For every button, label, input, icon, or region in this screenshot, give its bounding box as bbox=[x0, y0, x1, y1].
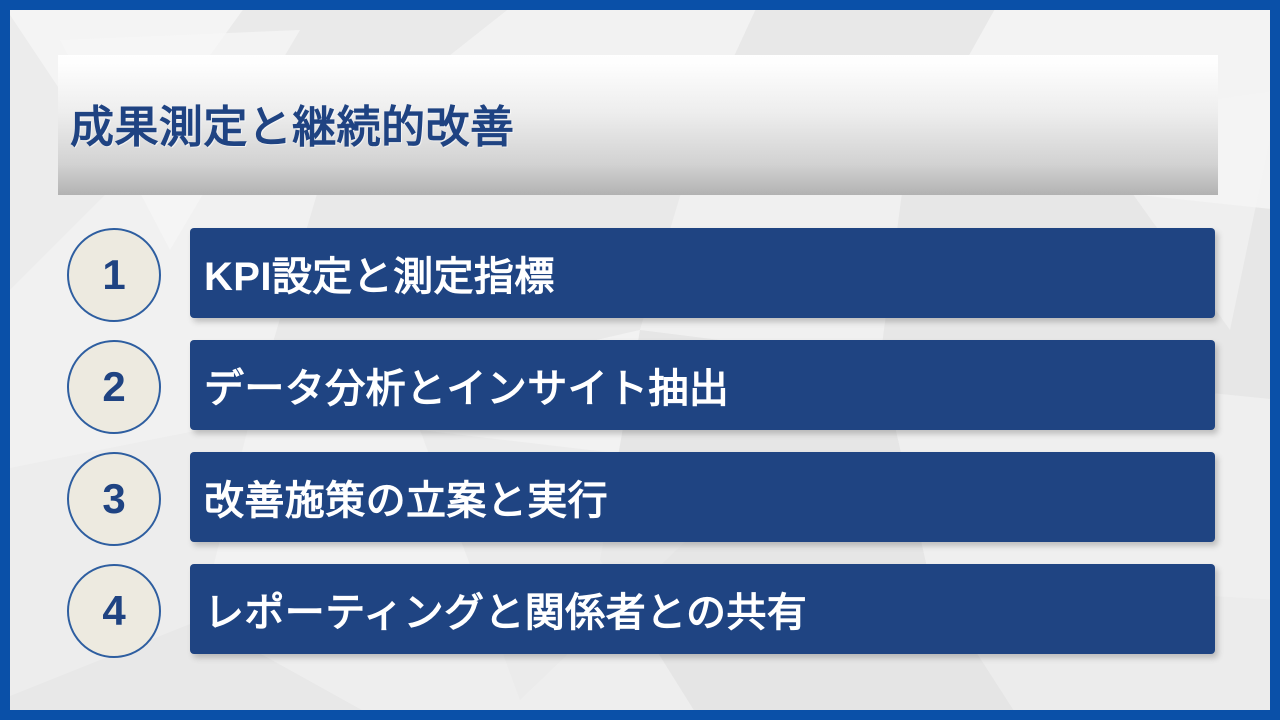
numbered-list: 1 KPI設定と測定指標 2 データ分析とインサイト抽出 3 改善施策の立案と実… bbox=[0, 226, 1280, 674]
list-item[interactable]: 4 レポーティングと関係者との共有 bbox=[0, 562, 1280, 674]
list-item-number: 3 bbox=[102, 478, 125, 520]
frame-border-top bbox=[0, 0, 1280, 10]
list-item[interactable]: 1 KPI設定と測定指標 bbox=[0, 226, 1280, 338]
list-item-label: データ分析とインサイト抽出 bbox=[190, 356, 729, 414]
list-item-bar[interactable]: KPI設定と測定指標 bbox=[190, 228, 1215, 318]
frame-border-bottom bbox=[0, 710, 1280, 720]
list-item[interactable]: 2 データ分析とインサイト抽出 bbox=[0, 338, 1280, 450]
list-item-number: 4 bbox=[102, 590, 125, 632]
list-item-number-badge: 2 bbox=[67, 340, 161, 434]
title-band: 成果測定と継続的改善 bbox=[58, 55, 1218, 195]
list-item-bar[interactable]: 改善施策の立案と実行 bbox=[190, 452, 1215, 542]
list-item-number: 1 bbox=[102, 254, 125, 296]
list-item-number-badge: 1 bbox=[67, 228, 161, 322]
list-item-label: レポーティングと関係者との共有 bbox=[190, 580, 807, 638]
list-item-label: KPI設定と測定指標 bbox=[190, 244, 555, 302]
page-title: 成果測定と継続的改善 bbox=[70, 91, 514, 155]
list-item-number-badge: 3 bbox=[67, 452, 161, 546]
list-item-bar[interactable]: データ分析とインサイト抽出 bbox=[190, 340, 1215, 430]
list-item-number-badge: 4 bbox=[67, 564, 161, 658]
list-item-bar[interactable]: レポーティングと関係者との共有 bbox=[190, 564, 1215, 654]
slide-canvas: 成果測定と継続的改善 1 KPI設定と測定指標 2 データ分析とインサイト抽出 … bbox=[0, 0, 1280, 720]
list-item[interactable]: 3 改善施策の立案と実行 bbox=[0, 450, 1280, 562]
list-item-number: 2 bbox=[102, 366, 125, 408]
list-item-label: 改善施策の立案と実行 bbox=[190, 468, 608, 526]
